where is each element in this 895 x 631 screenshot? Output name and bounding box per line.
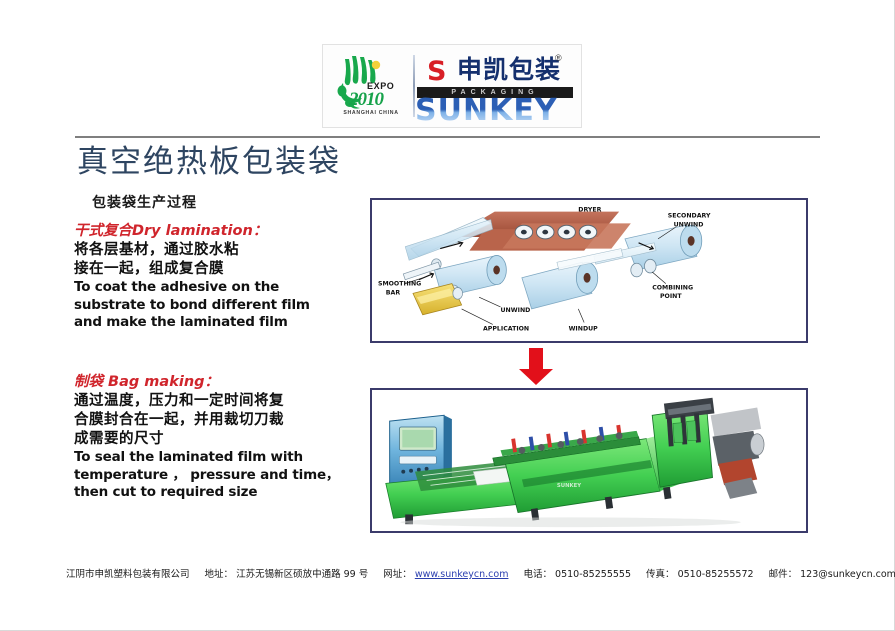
flow-down-arrow-icon [518, 348, 554, 386]
dry-lamination-cn-line-1: 将各层基材，通过胶水粘 [74, 241, 364, 260]
footer-fax: 0510-85255572 [678, 569, 754, 580]
expo-city-label: SHANGHAI CHINA [331, 110, 411, 116]
film-roll-arm [711, 408, 764, 499]
expo-year-label: 2010 [349, 89, 383, 111]
brand-english-name: SUNKEY [415, 95, 558, 127]
expo-2010-logo: EXPO 2010 SHANGHAI CHINA [323, 45, 413, 127]
bag-making-en-line-2: temperature ， pressure and time， [74, 467, 364, 485]
footer-phone: 0510-85255555 [555, 569, 631, 580]
label-application: APPLICATION [483, 325, 529, 332]
footer-email: 123@sunkeycn.com [800, 569, 895, 580]
bag-making-figure: SUNKEY [370, 388, 808, 533]
dry-lamination-heading: 干式复合Dry lamination： [74, 222, 364, 241]
bag-making-machine-illustration: SUNKEY [372, 390, 806, 531]
footer-address-label: 地址： [205, 569, 234, 580]
footer-email-label: 邮件： [769, 569, 798, 580]
label-combining-point: COMBINING [652, 284, 693, 291]
sunkey-s-mark-icon: S [427, 59, 453, 85]
bag-making-en-line-3: then cut to required size [74, 484, 364, 502]
footer-phone-label: 电话： [523, 569, 552, 580]
label-smoothing-bar-2: BAR [386, 289, 401, 296]
footer-contact-bar: 江阴市申凯塑料包装有限公司 地址： 江苏无锡新区硕放中通路 99 号 网址： w… [66, 566, 856, 580]
label-dryer: DRYER [578, 207, 601, 214]
bag-making-en-line-1: To seal the laminated film with [74, 449, 364, 467]
lamination-machine-illustration: DRYER SECONDARY UNWIND SMOOTHING BAR UNW… [372, 200, 806, 341]
bag-making-cn-line-1: 通过温度，压力和一定时间将复 [74, 392, 364, 411]
unwind-tower [652, 398, 714, 487]
label-smoothing-bar: SMOOTHING [378, 281, 421, 288]
dry-lamination-text-block: 干式复合Dry lamination： 将各层基材，通过胶水粘 接在一起，组成复… [74, 222, 364, 332]
footer-fax-label: 传真： [646, 569, 675, 580]
svg-text:SUNKEY: SUNKEY [557, 483, 581, 489]
label-combining-point-2: POINT [660, 293, 682, 300]
label-windup: WINDUP [569, 325, 599, 332]
dry-lamination-en-line-2: substrate to bond different film [74, 297, 364, 315]
footer-website-label: 网址： [383, 569, 412, 580]
footer-address: 江苏无锡新区硕放中通路 99 号 [236, 569, 368, 580]
dry-lamination-cn-line-2: 接在一起，组成复合膜 [74, 260, 364, 279]
registered-trademark-icon: ® [555, 53, 562, 63]
title-divider-rule [75, 136, 820, 138]
dry-lamination-en-line-1: To coat the adhesive on the [74, 279, 364, 297]
dry-lamination-figure: DRYER SECONDARY UNWIND SMOOTHING BAR UNW… [370, 198, 808, 343]
slide-canvas: EXPO 2010 SHANGHAI CHINA S 申凯包装 ® PACKAG… [0, 0, 895, 631]
bag-making-cn-line-2: 合膜封合在一起，并用裁切刀裁 [74, 411, 364, 430]
footer-company: 江阴市申凯塑料包装有限公司 [66, 569, 190, 580]
brand-chinese-name: 申凯包装 [457, 55, 561, 85]
dry-lamination-en-line-3: and make the laminated film [74, 314, 364, 332]
label-secondary-unwind-2: UNWIND [674, 221, 704, 228]
footer-website-link[interactable]: www.sunkeycn.com [415, 569, 509, 580]
bag-making-cn-line-3: 成需要的尺寸 [74, 430, 364, 449]
bag-making-heading: 制袋 Bag making： [74, 373, 364, 392]
bag-making-text-block: 制袋 Bag making： 通过温度，压力和一定时间将复 合膜封合在一起，并用… [74, 373, 364, 502]
label-secondary-unwind: SECONDARY [668, 213, 711, 220]
sunkey-brand-logo: S 申凯包装 ® PACKAGING SUNKEY [415, 45, 581, 127]
company-logo-band: EXPO 2010 SHANGHAI CHINA S 申凯包装 ® PACKAG… [322, 44, 582, 128]
page-title: 真空绝热板包装袋 [77, 142, 341, 182]
label-unwind: UNWIND [501, 307, 531, 314]
section-subtitle: 包装袋生产过程 [92, 192, 197, 212]
